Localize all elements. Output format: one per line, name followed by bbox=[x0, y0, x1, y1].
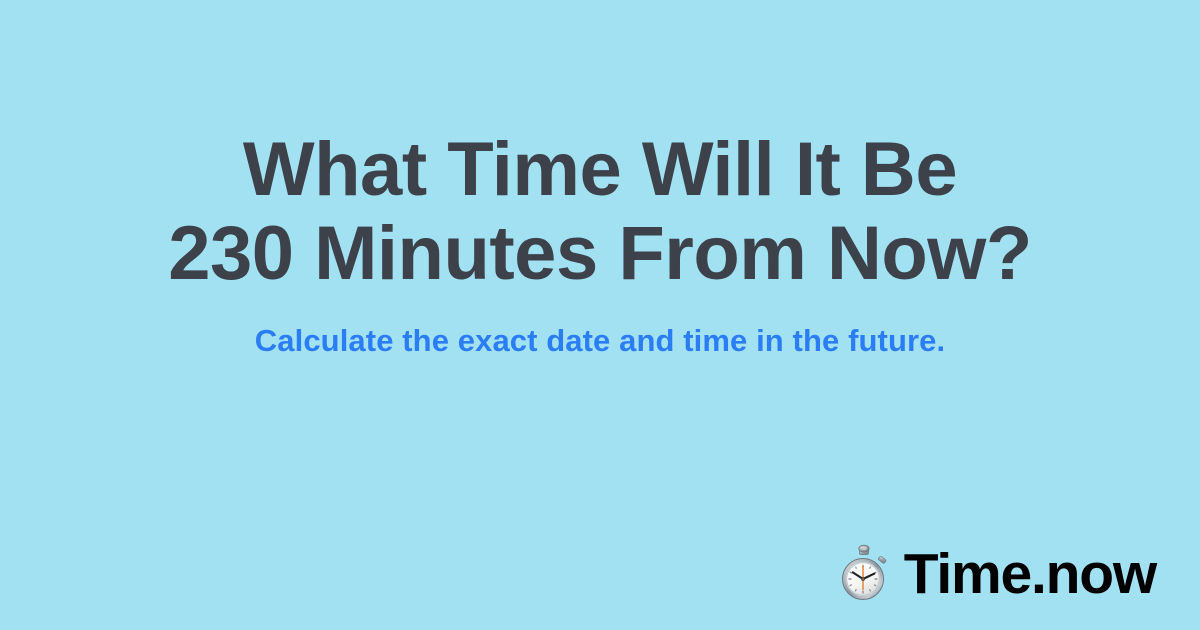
page-subtitle: Calculate the exact date and time in the… bbox=[0, 322, 1200, 360]
stopwatch-icon bbox=[836, 544, 892, 604]
page-title: What Time Will It Be 230 Minutes From No… bbox=[0, 128, 1200, 296]
brand-wordmark: Time.now bbox=[904, 546, 1156, 603]
page-title-line-2: 230 Minutes From Now? bbox=[0, 212, 1200, 296]
hero-section: What Time Will It Be 230 Minutes From No… bbox=[0, 128, 1200, 360]
page-title-line-1: What Time Will It Be bbox=[0, 128, 1200, 212]
social-share-card: What Time Will It Be 230 Minutes From No… bbox=[0, 0, 1200, 630]
brand-lockup[interactable]: Time.now bbox=[836, 544, 1156, 604]
